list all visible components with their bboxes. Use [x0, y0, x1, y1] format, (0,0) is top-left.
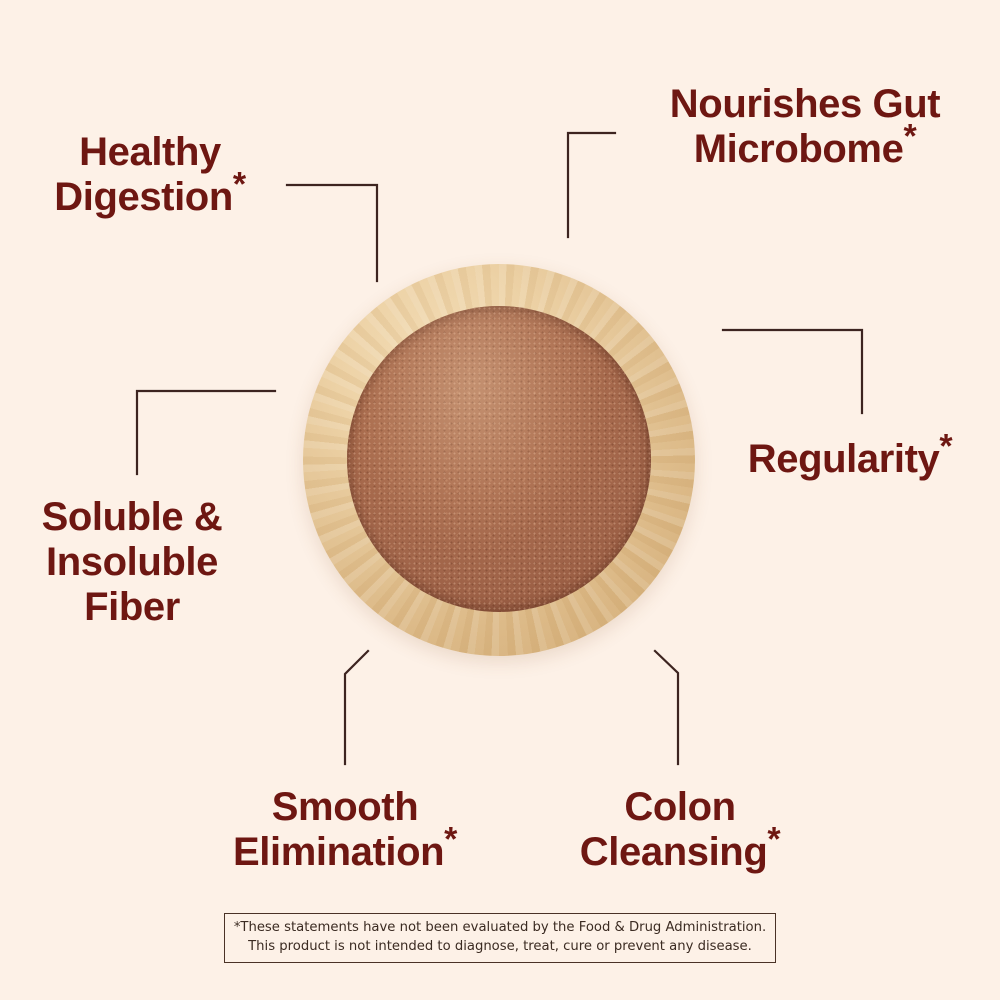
- benefit-text-colon-cleansing: Colon Cleansing: [580, 785, 768, 874]
- benefit-label-soluble-insoluble-fiber: Soluble & Insoluble Fiber: [0, 495, 264, 629]
- asterisk-nourishes-gut-microbome: *: [903, 117, 916, 155]
- disclaimer-line-1: *These statements have not been evaluate…: [233, 919, 767, 938]
- disclaimer-line-2: This product is not intended to diagnose…: [233, 938, 767, 957]
- benefit-label-healthy-digestion: Healthy Digestion*: [0, 130, 300, 220]
- connector-nourishes-gut: [568, 133, 615, 237]
- connector-regularity: [723, 330, 862, 413]
- connector-healthy-digestion: [287, 185, 377, 281]
- benefits-infographic: Healthy Digestion* Nourishes Gut Microbo…: [0, 0, 1000, 1000]
- benefit-label-regularity: Regularity*: [700, 437, 1000, 482]
- connector-fiber: [137, 391, 275, 474]
- benefit-label-smooth-elimination: Smooth Elimination*: [195, 785, 495, 875]
- benefit-text-smooth-elimination: Smooth Elimination: [233, 785, 444, 874]
- asterisk-healthy-digestion: *: [233, 165, 246, 203]
- benefit-text-nourishes-gut-microbome: Nourishes Gut Microbome: [670, 82, 940, 171]
- fda-disclaimer: *These statements have not been evaluate…: [224, 913, 776, 963]
- asterisk-colon-cleansing: *: [767, 820, 780, 858]
- benefit-text-healthy-digestion: Healthy Digestion: [54, 130, 233, 219]
- benefit-label-colon-cleansing: Colon Cleansing*: [545, 785, 815, 875]
- asterisk-regularity: *: [939, 428, 952, 466]
- benefit-text-regularity: Regularity: [748, 437, 940, 481]
- benefit-label-nourishes-gut-microbome: Nourishes Gut Microbome*: [620, 82, 990, 172]
- bowl-rim-shading: [303, 264, 695, 656]
- benefit-text-soluble-insoluble-fiber: Soluble & Insoluble Fiber: [42, 495, 223, 629]
- asterisk-smooth-elimination: *: [444, 820, 457, 858]
- connector-smooth-elimination: [345, 651, 368, 764]
- bowl-image: [303, 264, 695, 656]
- connector-colon-cleansing: [655, 651, 678, 764]
